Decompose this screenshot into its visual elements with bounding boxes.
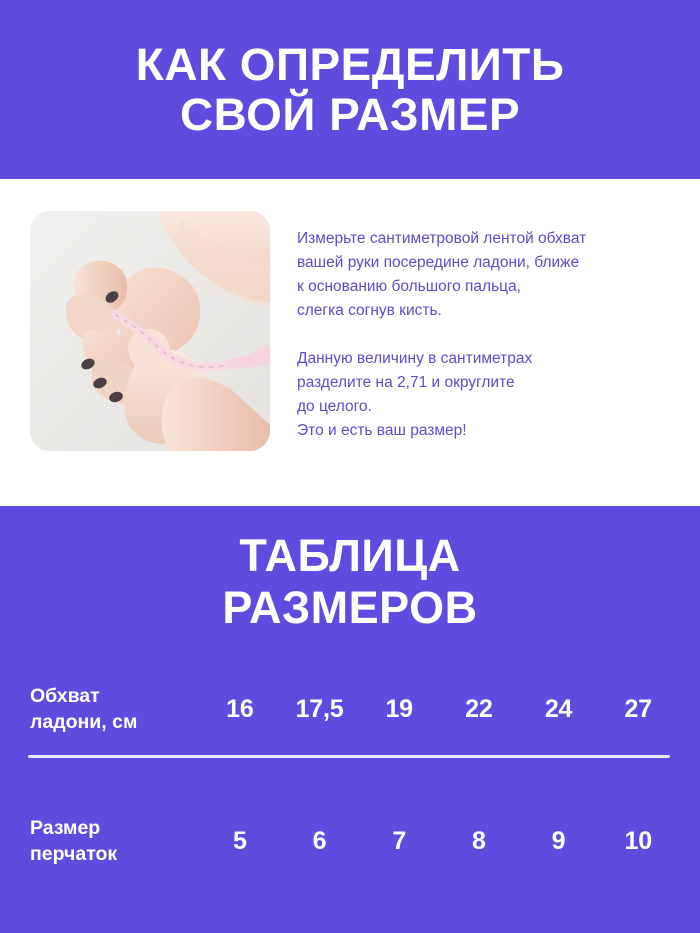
table-row: Размер перчаток 5 6 7 8 9 10: [0, 793, 700, 889]
row-divider: [28, 755, 670, 758]
table-cell: 24: [519, 695, 599, 723]
table-cell: 5: [200, 827, 280, 855]
table-cell: 10: [598, 827, 678, 855]
table-cell: 6: [280, 827, 360, 855]
measurement-photo: [30, 211, 270, 451]
table-cell: 8: [439, 827, 519, 855]
row-label-palm-circumference: Обхват ладони, см: [0, 683, 200, 735]
page-title: КАК ОПРЕДЕЛИТЬ СВОЙ РАЗМЕР: [115, 40, 584, 140]
size-table-section: ТАБЛИЦА РАЗМЕРОВ Обхват ладони, см 16 17…: [0, 506, 700, 933]
table-cell: 19: [359, 695, 439, 723]
table-cell: 7: [359, 827, 439, 855]
instructions-text: Измерьте сантиметровой лентой обхват ваш…: [297, 227, 687, 443]
table-cell: 27: [598, 695, 678, 723]
size-table: Обхват ладони, см 16 17,5 19 22 24 27 Ра…: [0, 661, 700, 889]
table-cell: 17,5: [280, 695, 360, 723]
instruction-paragraph-1: Измерьте сантиметровой лентой обхват ваш…: [297, 227, 687, 323]
instruction-paragraph-2: Данную величину в сантиметрах разделите …: [297, 347, 687, 443]
table-cell: 9: [519, 827, 599, 855]
size-table-title: ТАБЛИЦА РАЗМЕРОВ: [0, 530, 700, 634]
row-values-palm-circumference: 16 17,5 19 22 24 27: [200, 695, 700, 723]
header-band: КАК ОПРЕДЕЛИТЬ СВОЙ РАЗМЕР: [0, 0, 700, 179]
size-guide-page: КАК ОПРЕДЕЛИТЬ СВОЙ РАЗМЕР: [0, 0, 700, 933]
row-values-glove-size: 5 6 7 8 9 10: [200, 827, 700, 855]
instructions-section: Измерьте сантиметровой лентой обхват ваш…: [0, 179, 700, 506]
row-label-glove-size: Размер перчаток: [0, 815, 200, 867]
table-cell: 16: [200, 695, 280, 723]
table-cell: 22: [439, 695, 519, 723]
table-row: Обхват ладони, см 16 17,5 19 22 24 27: [0, 661, 700, 757]
